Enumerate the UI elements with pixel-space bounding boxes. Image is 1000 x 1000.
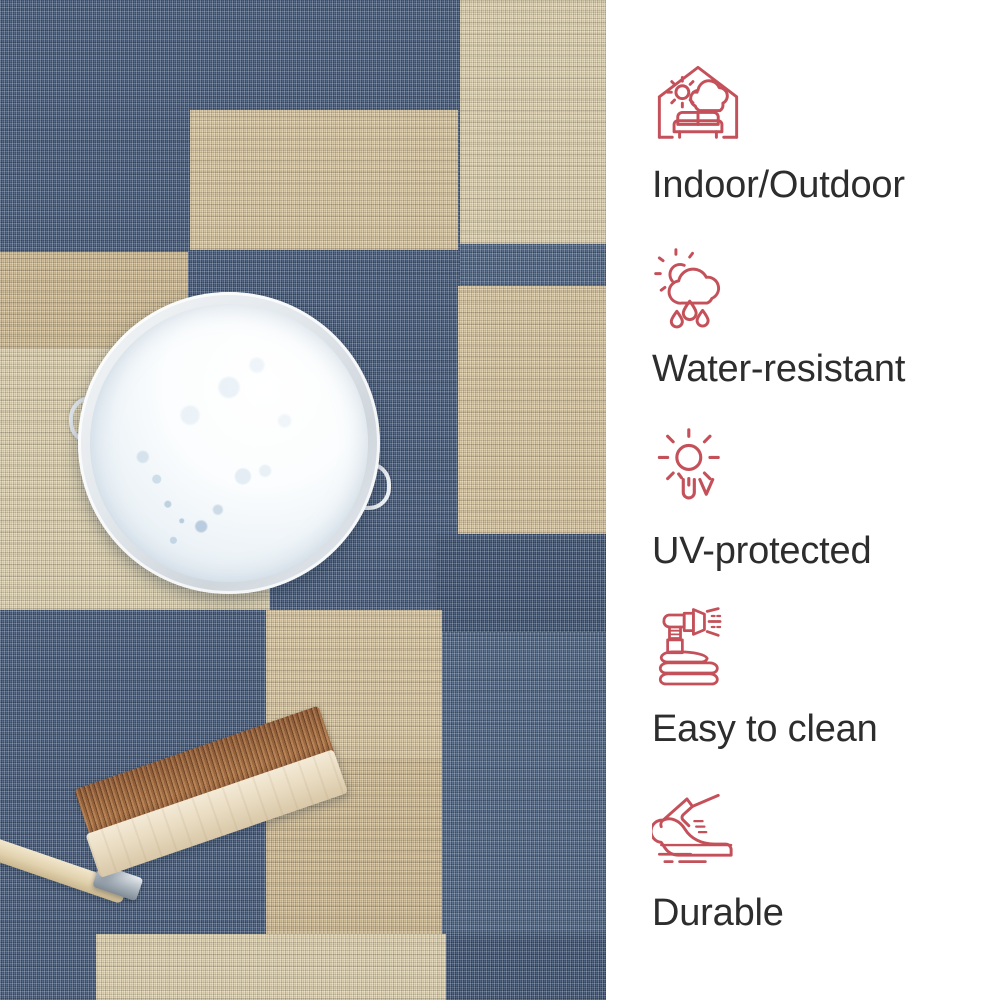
feature-label: Water-resistant	[652, 350, 905, 388]
bucket	[78, 292, 380, 594]
sneaker-on-ground-icon	[652, 788, 744, 880]
garden-hose-spray-nozzle-icon	[652, 604, 744, 696]
bucket-rim	[78, 292, 380, 594]
product-photo	[0, 0, 606, 1000]
feature-label: Indoor/Outdoor	[652, 166, 905, 204]
rug-block-tan-bottom-strip	[96, 934, 446, 1000]
feature-item-water-resistant: Water-resistant	[652, 246, 905, 388]
rug-block-tan-top-right	[460, 0, 606, 244]
feature-item-easy-to-clean: Easy to clean	[652, 604, 878, 748]
sun-with-uv-text-icon	[652, 428, 744, 520]
soap-suds	[90, 304, 368, 582]
feature-list-panel: Indoor/Outdoor Water-resistant	[606, 0, 1000, 1000]
product-feature-infographic: Indoor/Outdoor Water-resistant	[0, 0, 1000, 1000]
feature-item-durable: Durable	[652, 788, 784, 932]
rug-block-tan-right-column	[458, 286, 606, 534]
feature-item-uv-protected: UV-protected	[652, 428, 871, 570]
bucket-water	[90, 304, 368, 582]
rug-block-navy-right-upper	[460, 244, 606, 286]
rug-block-navy-bottom-far-left	[0, 934, 96, 1000]
house-with-sun-cloud-sofa-icon	[652, 60, 744, 152]
rug-block-navy-bottom-corner	[446, 934, 606, 1000]
sun-behind-rain-cloud-icon	[652, 246, 744, 338]
feature-label: UV-protected	[652, 532, 871, 570]
rug-block-navy-lower-right	[436, 534, 606, 632]
rug-block-navy-bottom-right	[442, 632, 606, 934]
feature-label: Durable	[652, 894, 784, 932]
feature-label: Easy to clean	[652, 710, 878, 748]
rug-block-tan-upper-mid	[190, 110, 458, 250]
feature-item-indoor-outdoor: Indoor/Outdoor	[652, 60, 905, 204]
